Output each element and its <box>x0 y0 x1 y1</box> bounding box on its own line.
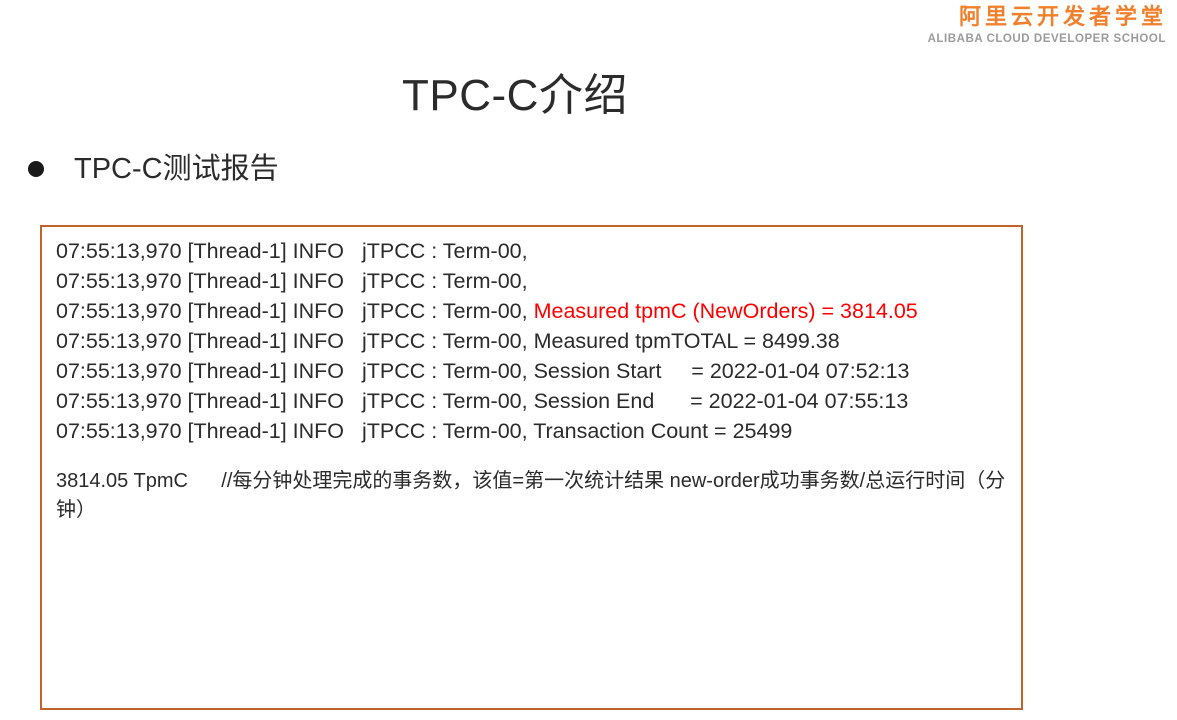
log-line-text: 07:55:13,970 [Thread-1] INFO jTPCC : Ter… <box>56 419 792 443</box>
log-line: 07:55:13,970 [Thread-1] INFO jTPCC : Ter… <box>56 296 1016 326</box>
log-line-text: 07:55:13,970 [Thread-1] INFO jTPCC : Ter… <box>56 329 840 353</box>
brand-logo: 阿里云开发者学堂 ALIBABA CLOUD DEVELOPER SCHOOL <box>928 6 1167 46</box>
log-line-highlight: Measured tpmC (NewOrders) = 3814.05 <box>534 299 918 323</box>
log-line: 07:55:13,970 [Thread-1] INFO jTPCC : Ter… <box>56 386 1016 416</box>
log-note-text: 3814.05 TpmC //每分钟处理完成的事务数，该值=第一次统计结果 ne… <box>56 467 1019 525</box>
filled-circle-bullet-icon <box>28 161 44 177</box>
log-line: 07:55:13,970 [Thread-1] INFO jTPCC : Ter… <box>56 236 1016 266</box>
log-line-text: 07:55:13,970 [Thread-1] INFO jTPCC : Ter… <box>56 389 908 413</box>
log-line: 07:55:13,970 [Thread-1] INFO jTPCC : Ter… <box>56 356 1016 386</box>
log-line-list: 07:55:13,970 [Thread-1] INFO jTPCC : Ter… <box>56 236 1016 446</box>
page-title: TPC-C介绍 <box>0 72 1030 120</box>
log-line-text: 07:55:13,970 [Thread-1] INFO jTPCC : Ter… <box>56 239 528 263</box>
log-line: 07:55:13,970 [Thread-1] INFO jTPCC : Ter… <box>56 266 1016 296</box>
log-output-box: 07:55:13,970 [Thread-1] INFO jTPCC : Ter… <box>40 225 1023 710</box>
log-line-text: 07:55:13,970 [Thread-1] INFO jTPCC : Ter… <box>56 299 534 323</box>
bullet-heading: TPC-C测试报告 <box>28 152 279 187</box>
bullet-heading-label: TPC-C测试报告 <box>74 152 279 187</box>
brand-logo-chinese: 阿里云开发者学堂 <box>928 6 1167 28</box>
log-line-text: 07:55:13,970 [Thread-1] INFO jTPCC : Ter… <box>56 269 528 293</box>
log-line: 07:55:13,970 [Thread-1] INFO jTPCC : Ter… <box>56 326 1016 356</box>
brand-logo-english: ALIBABA CLOUD DEVELOPER SCHOOL <box>928 34 1166 46</box>
log-line: 07:55:13,970 [Thread-1] INFO jTPCC : Ter… <box>56 416 1016 446</box>
log-line-text: 07:55:13,970 [Thread-1] INFO jTPCC : Ter… <box>56 359 909 383</box>
